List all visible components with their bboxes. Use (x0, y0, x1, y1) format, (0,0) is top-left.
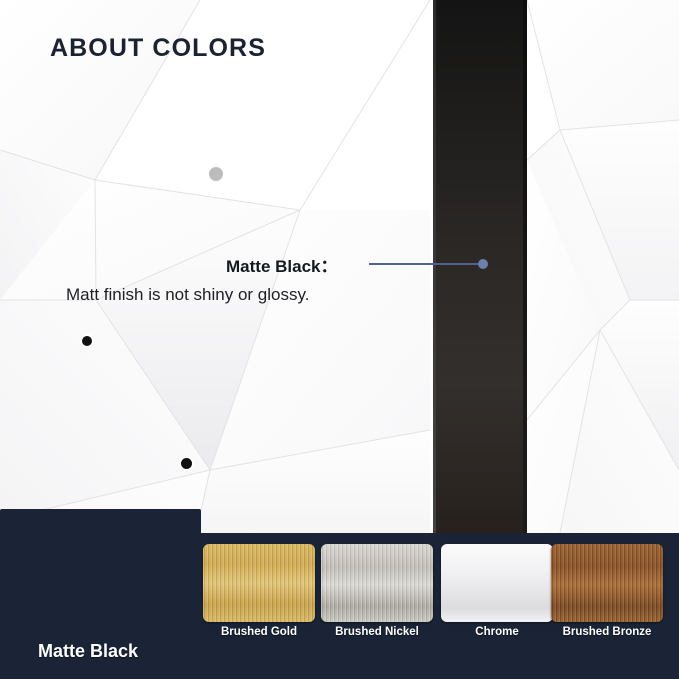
swatch-brushed-nickel[interactable] (321, 544, 433, 622)
decorative-dot-black-upper (82, 336, 92, 346)
stripe-right-edge (523, 0, 527, 533)
swatch-chrome[interactable] (441, 544, 553, 622)
swatch-matte-black-label: Matte Black (38, 641, 138, 662)
decorative-dot-black-lower (181, 458, 192, 469)
callout-leader-line (369, 263, 482, 265)
decorative-dot-gray (209, 167, 223, 181)
color-info-panel: ABOUT COLORS Matte Black： Matt finish is… (0, 0, 679, 679)
page-title: ABOUT COLORS (50, 34, 266, 63)
swatch-brushed-bronze-label: Brushed Bronze (551, 626, 663, 638)
callout-endpoint-dot (478, 259, 488, 269)
swatch-brushed-nickel-label: Brushed Nickel (321, 626, 433, 638)
callout-description: Matt finish is not shiny or glossy. (66, 285, 309, 305)
swatch-brushed-gold[interactable] (203, 544, 315, 622)
swatch-brushed-gold-label: Brushed Gold (203, 626, 315, 638)
stripe-left-edge (433, 0, 436, 533)
swatch-matte-black[interactable] (0, 509, 201, 635)
swatch-chrome-label: Chrome (441, 626, 553, 638)
swatch-brushed-bronze[interactable] (551, 544, 663, 622)
callout-label: Matte Black： (226, 252, 337, 277)
